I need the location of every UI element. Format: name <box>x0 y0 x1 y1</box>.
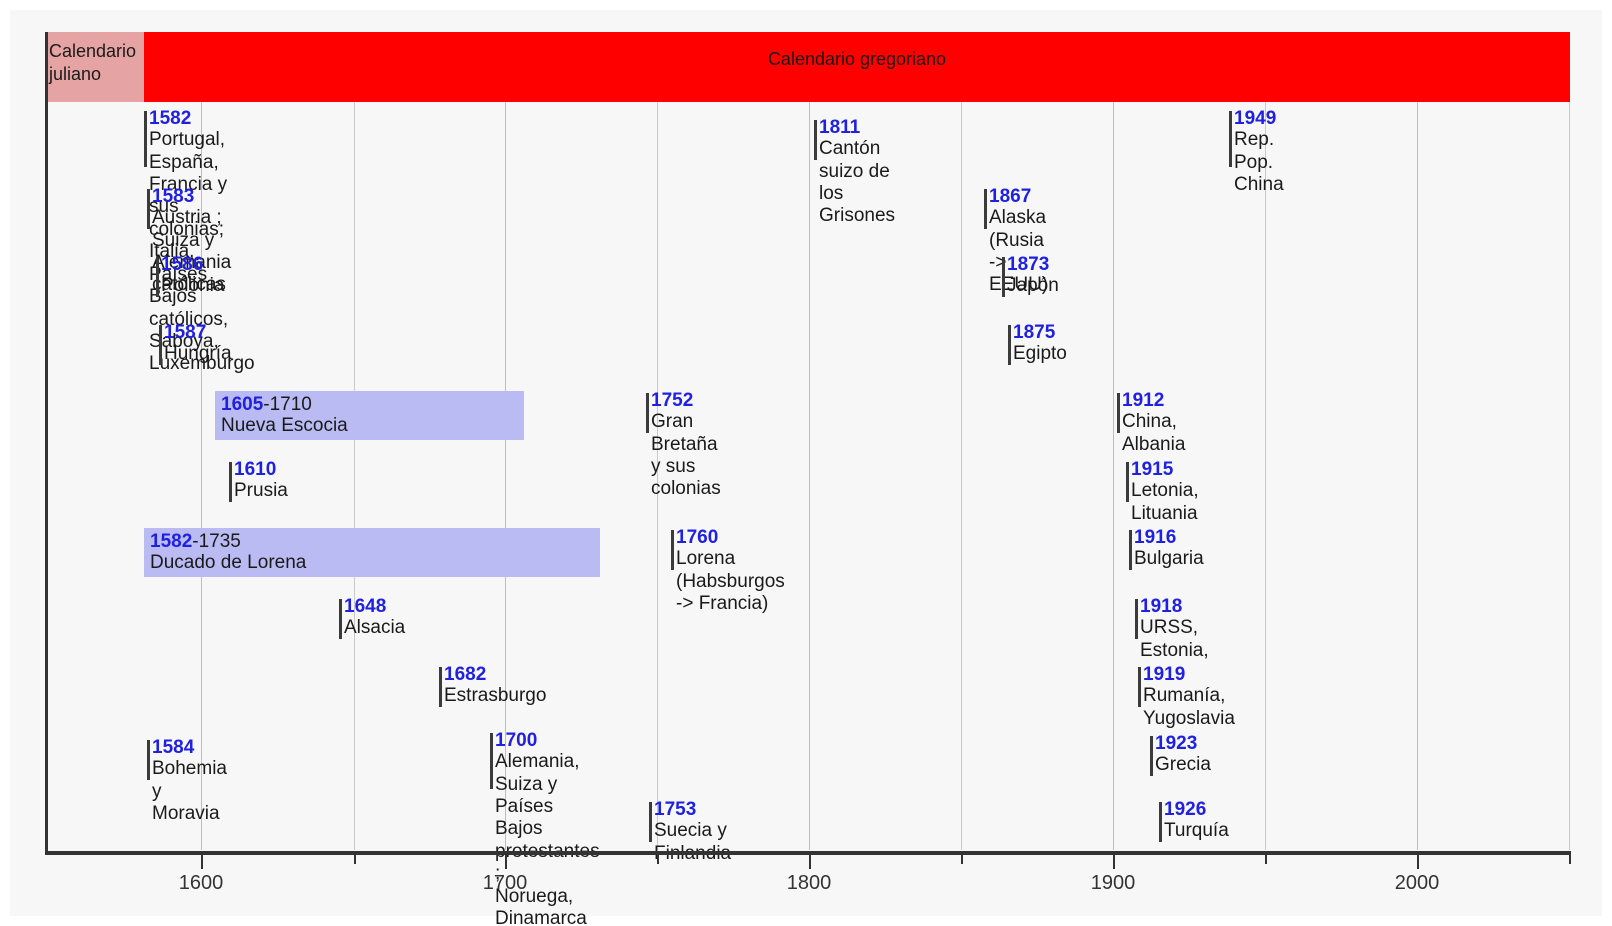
tick-1950 <box>1265 855 1267 864</box>
figure-panel: Calendario julianoCalendario gregoriano … <box>10 10 1602 916</box>
tick-label-2000: 2000 <box>1395 872 1440 895</box>
tick-1800 <box>809 855 811 869</box>
timeline-figure: Calendario julianoCalendario gregoriano … <box>0 0 1612 926</box>
tick-1650 <box>354 855 356 864</box>
tick-label-1600: 1600 <box>179 872 224 895</box>
tick-1750 <box>657 855 659 864</box>
tick-label-1700: 1700 <box>483 872 528 895</box>
tick-1700 <box>505 855 507 869</box>
tick-1600 <box>201 855 203 869</box>
x-axis-ticks: 16001700180019002000 <box>10 10 1602 916</box>
tick-2000 <box>1417 855 1419 869</box>
tick-1850 <box>961 855 963 864</box>
tick-2050 <box>1569 855 1571 864</box>
tick-1900 <box>1113 855 1115 869</box>
tick-label-1800: 1800 <box>787 872 832 895</box>
tick-label-1900: 1900 <box>1091 872 1136 895</box>
